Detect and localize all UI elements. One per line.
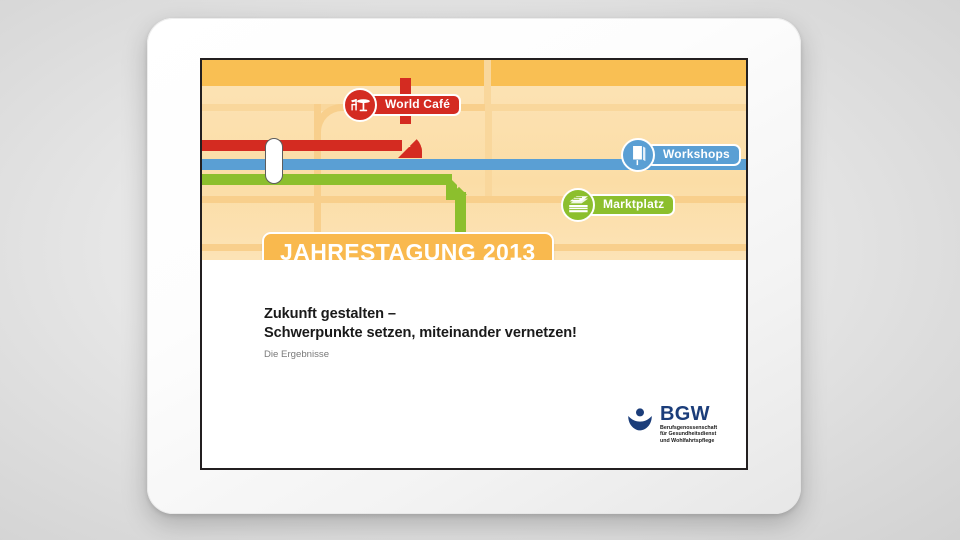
cafe-table-icon — [343, 88, 377, 122]
slide-subline: Die Ergebnisse — [264, 349, 329, 361]
bgw-logo-text: BGW Berufsgenossenschaft für Gesundheits… — [660, 404, 717, 444]
bgw-subtitle-line-2: für Gesundheitsdienst — [660, 431, 717, 437]
bgw-subtitle-line-3: und Wohlfahrtspflege — [660, 438, 717, 444]
green-line-segment-west — [202, 174, 452, 185]
map-street-v2 — [484, 60, 491, 104]
bgw-logo: BGW Berufsgenossenschaft für Gesundheits… — [626, 404, 717, 444]
headline-line-1: Zukunft gestalten – — [264, 305, 577, 324]
market-stall-icon — [561, 188, 595, 222]
flipchart-icon — [621, 138, 655, 172]
headline-line-2: Schwerpunkte setzen, miteinander vernetz… — [264, 324, 577, 343]
presentation-slide: World Café Workshops — [200, 58, 748, 470]
metro-map-graphic: World Café Workshops — [202, 60, 746, 260]
station-label-world-cafe: World Café — [368, 94, 461, 116]
red-line-segment-west — [202, 140, 402, 151]
jahrestagung-banner: JAHRESTAGUNG 2013 — [262, 232, 554, 260]
station-world-cafe[interactable]: World Café — [343, 88, 461, 122]
station-workshops[interactable]: Workshops — [621, 138, 741, 172]
bgw-subtitle: Berufsgenossenschaft für Gesundheitsdien… — [660, 425, 717, 444]
slide-headline: Zukunft gestalten – Schwerpunkte setzen,… — [264, 305, 577, 342]
station-label-workshops: Workshops — [646, 144, 741, 166]
station-label-marktplatz: Marktplatz — [586, 194, 675, 216]
tablet-device: World Café Workshops — [147, 18, 801, 514]
map-top-band — [202, 60, 746, 86]
bgw-mark-icon — [626, 407, 654, 431]
map-street-v3 — [485, 104, 492, 196]
station-marktplatz[interactable]: Marktplatz — [561, 188, 675, 222]
bgw-wordmark: BGW — [660, 404, 717, 424]
interchange-station-marker[interactable] — [265, 138, 283, 184]
